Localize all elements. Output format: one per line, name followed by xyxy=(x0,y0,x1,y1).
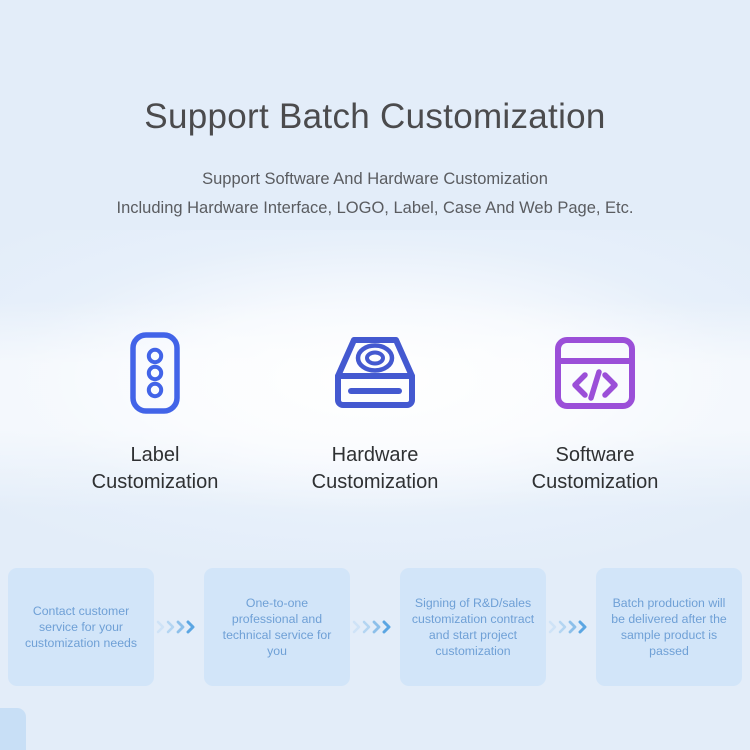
feature-software-customization: Software Customization xyxy=(485,332,705,496)
feature-label-text: Label Customization xyxy=(45,442,265,496)
flow-step-3: Signing of R&D/sales customization contr… xyxy=(400,568,546,686)
subtitle-block: Support Software And Hardware Customizat… xyxy=(0,165,750,223)
feature-label-line-2: Customization xyxy=(485,469,705,496)
feature-label-line-2: Customization xyxy=(45,469,265,496)
flow-step-text: Batch production will be delivered after… xyxy=(605,595,733,659)
flow-step-text: Signing of R&D/sales customization contr… xyxy=(409,595,537,659)
hard-drive-icon xyxy=(265,332,485,414)
flow-step-2: One-to-one professional and technical se… xyxy=(204,568,350,686)
feature-label-line-1: Software xyxy=(556,444,635,466)
flow-step-4: Batch production will be delivered after… xyxy=(596,568,742,686)
double-chevron-right-icon xyxy=(154,568,204,686)
feature-label-text: Software Customization xyxy=(485,442,705,496)
flow-step-1: Contact customer service for your custom… xyxy=(8,568,154,686)
header-section: Support Batch Customization Support Soft… xyxy=(0,0,750,223)
feature-label-customization: Label Customization xyxy=(45,332,265,496)
flow-step-text: Contact customer service for your custom… xyxy=(17,603,145,651)
process-flow: Contact customer service for your custom… xyxy=(0,568,750,686)
feature-label-line-1: Hardware xyxy=(332,444,419,466)
next-section-peek xyxy=(0,708,26,750)
flow-step-text: One-to-one professional and technical se… xyxy=(213,595,341,659)
feature-label-line-1: Label xyxy=(131,444,180,466)
code-window-icon xyxy=(485,332,705,414)
label-tag-icon xyxy=(45,332,265,414)
feature-label-text: Hardware Customization xyxy=(265,442,485,496)
feature-hardware-customization: Hardware Customization xyxy=(265,332,485,496)
double-chevron-right-icon xyxy=(350,568,400,686)
subtitle-line-2: Including Hardware Interface, LOGO, Labe… xyxy=(0,194,750,223)
subtitle-line-1: Support Software And Hardware Customizat… xyxy=(0,165,750,194)
page-title: Support Batch Customization xyxy=(0,0,750,138)
feature-list: Label Customization Hardware Customizati… xyxy=(0,332,750,496)
feature-label-line-2: Customization xyxy=(265,469,485,496)
promo-banner: Support Batch Customization Support Soft… xyxy=(0,0,750,750)
double-chevron-right-icon xyxy=(546,568,596,686)
